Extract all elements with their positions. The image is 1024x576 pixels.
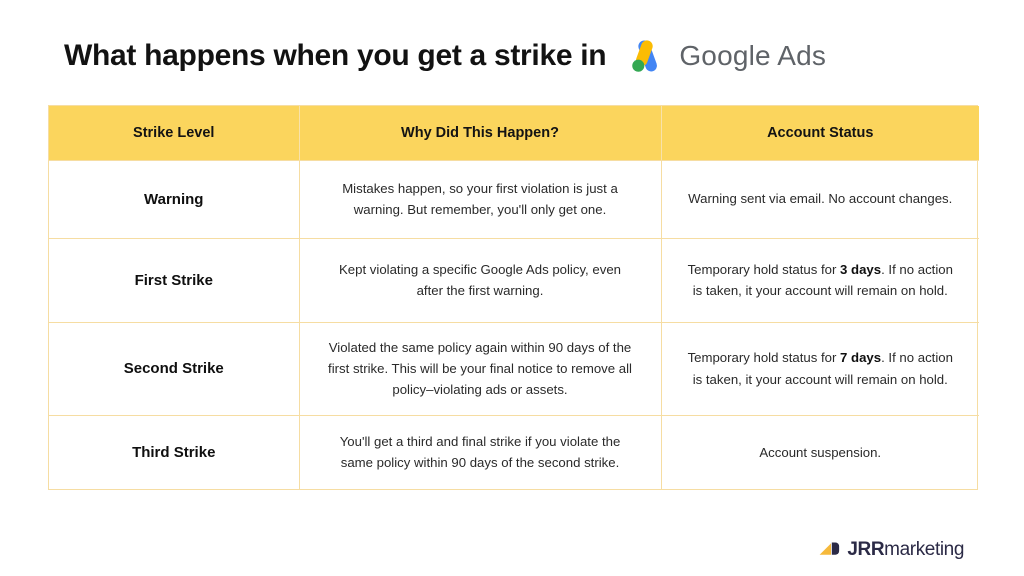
cell-account-status: Temporary hold status for 3 days. If no … xyxy=(661,238,979,322)
cell-reason: Violated the same policy again within 90… xyxy=(299,322,661,415)
cell-reason: Kept violating a specific Google Ads pol… xyxy=(299,238,661,322)
cell-account-status: Account suspension. xyxy=(661,415,979,489)
status-highlight: 7 days xyxy=(840,350,881,365)
status-prefix: Warning sent via email. No account chang… xyxy=(688,191,952,206)
cell-reason: Mistakes happen, so your first violation… xyxy=(299,160,661,238)
cell-strike-level: Third Strike xyxy=(49,415,299,489)
status-prefix: Temporary hold status for xyxy=(688,350,840,365)
column-header-account-status: Account Status xyxy=(661,106,979,160)
google-ads-mark-icon xyxy=(624,34,668,78)
jrr-brand-wordmark: JRRmarketing xyxy=(847,540,964,559)
column-header-strike-level: Strike Level xyxy=(49,106,299,160)
jrr-marketing-logo: JRRmarketing xyxy=(818,536,964,562)
google-ads-wordmark: Google Ads xyxy=(679,42,826,70)
table-row: First Strike Kept violating a specific G… xyxy=(49,238,979,322)
slide-title-row: What happens when you get a strike in Go… xyxy=(64,30,826,82)
table-row: Third Strike You'll get a third and fina… xyxy=(49,415,979,489)
cell-strike-level: First Strike xyxy=(49,238,299,322)
google-ads-logo: Google Ads xyxy=(624,34,826,78)
jrr-brand-bold: JRR xyxy=(847,539,884,560)
status-prefix: Temporary hold status for xyxy=(688,262,840,277)
cell-strike-level: Warning xyxy=(49,160,299,238)
status-highlight: 3 days xyxy=(840,262,881,277)
cell-account-status: Temporary hold status for 7 days. If no … xyxy=(661,322,979,415)
status-prefix: Account suspension. xyxy=(759,445,881,460)
cell-account-status: Warning sent via email. No account chang… xyxy=(661,160,979,238)
strike-policy-table: Strike Level Why Did This Happen? Accoun… xyxy=(48,105,978,490)
column-header-why-did-this-happen: Why Did This Happen? xyxy=(299,106,661,160)
cell-strike-level: Second Strike xyxy=(49,322,299,415)
table-row: Second Strike Violated the same policy a… xyxy=(49,322,979,415)
table-row: Warning Mistakes happen, so your first v… xyxy=(49,160,979,238)
page-title: What happens when you get a strike in xyxy=(64,41,606,71)
table-header-row: Strike Level Why Did This Happen? Accoun… xyxy=(49,106,979,160)
cell-reason: You'll get a third and final strike if y… xyxy=(299,415,661,489)
jrr-brand-light: marketing xyxy=(884,539,964,560)
slide-canvas: What happens when you get a strike in Go… xyxy=(0,0,1024,576)
jrr-brand-mark-icon xyxy=(818,539,844,559)
